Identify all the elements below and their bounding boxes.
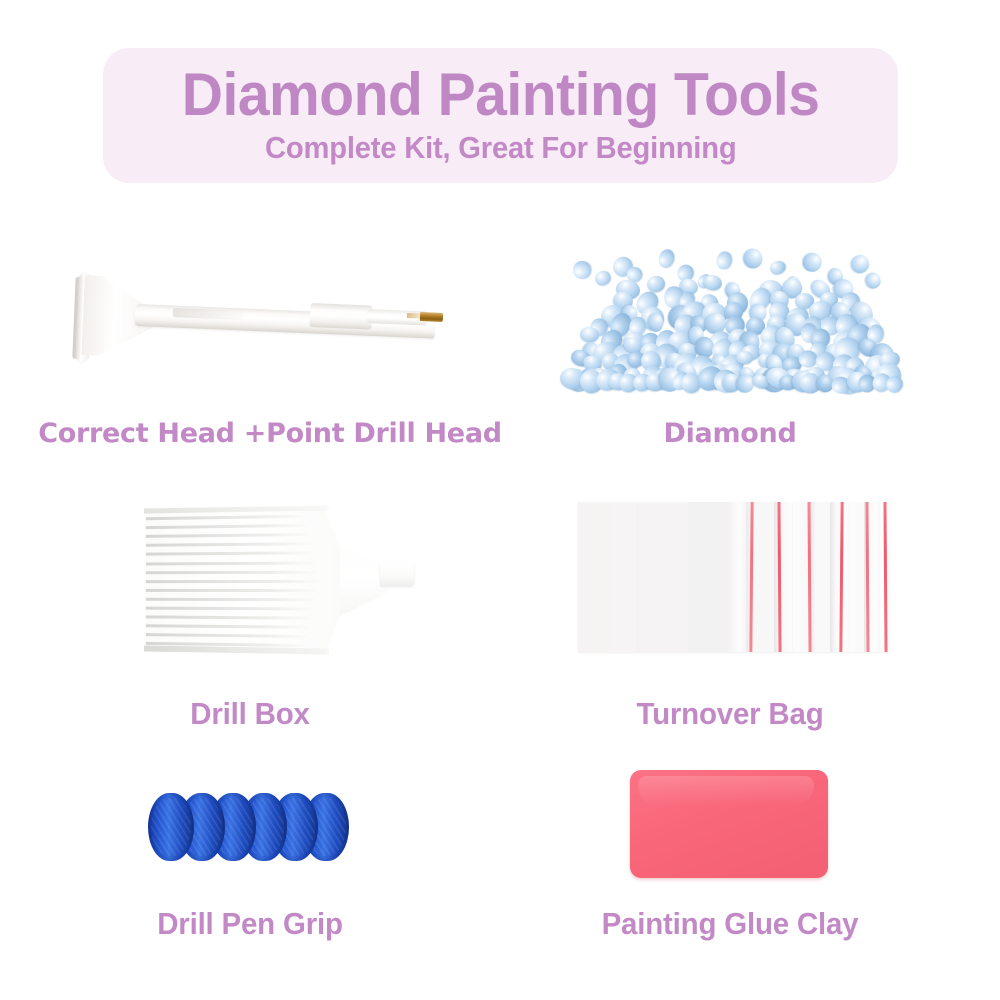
tray-groove [144, 615, 311, 619]
tray-groove [144, 570, 317, 574]
caption-drill-box: Drill Box [70, 696, 431, 732]
caption-correct-head-point-drill-head: Correct Head +Point Drill Head [0, 418, 540, 449]
diamond-drill-bead [803, 253, 822, 272]
tray-groove [144, 552, 313, 556]
tray-groove [144, 624, 309, 629]
foam-grip-texture [151, 798, 191, 856]
pen-grip-band [309, 303, 372, 330]
tray-groove [144, 524, 307, 529]
bag-zip-seal-line [749, 502, 753, 652]
diamond-drill-bead [656, 247, 676, 270]
tray-groove [144, 561, 315, 565]
bag-sheen [783, 502, 805, 652]
bag-sheen [870, 502, 892, 652]
page-title: Diamond Painting Tools [182, 64, 820, 126]
diamond-drill-bead [736, 374, 755, 393]
bag-panel [578, 502, 636, 652]
bag-zip-seal-line [777, 502, 781, 652]
pen-gold-tip [420, 312, 443, 322]
diamond-drill-bead [768, 259, 788, 277]
tray-grooves [144, 511, 326, 651]
tray-groove [144, 543, 311, 548]
blue-foam-pen-grips-icon [148, 790, 353, 868]
diamond-drill-bead [863, 270, 883, 291]
tray-groove [144, 580, 319, 583]
tray-groove [144, 515, 305, 521]
drill-pen-with-correction-head-icon [55, 268, 485, 373]
page-subtitle: Complete Kit, Great For Beginning [265, 128, 736, 168]
tray-groove [144, 607, 313, 611]
tray-groove [144, 598, 315, 602]
caption-turnover-bag: Turnover Bag [550, 696, 911, 732]
blue-diamond-drills-pile-icon [565, 243, 895, 393]
diamond-drill-bead [593, 268, 614, 288]
bag-sheen [728, 502, 750, 652]
tray-groove [144, 633, 307, 638]
diamond-drill-bead [736, 350, 754, 363]
diamond-drill-bead [573, 261, 591, 279]
caption-diamond: Diamond [540, 418, 920, 449]
infographic-page: Diamond Painting Tools Complete Kit, Gre… [0, 0, 1000, 1000]
caption-painting-glue-clay: Painting Glue Clay [550, 906, 911, 942]
tray-groove [144, 589, 317, 592]
tray-groove [144, 533, 309, 538]
tray-spout [380, 561, 414, 586]
bag-panel [636, 502, 688, 652]
diamond-drill-bead [702, 273, 724, 292]
grooved-drill-tray-icon [130, 495, 420, 665]
caption-drill-pen-grip: Drill Pen Grip [70, 906, 431, 942]
clear-zip-bags-stack-icon [578, 502, 890, 652]
clay-top-sheen [638, 776, 814, 806]
diamond-drill-bead [798, 350, 817, 368]
diamond-drill-bead [715, 250, 733, 271]
header-card: Diamond Painting Tools Complete Kit, Gre… [103, 48, 898, 183]
diamond-drill-bead [741, 246, 765, 270]
pink-glue-clay-block-icon [630, 770, 828, 878]
